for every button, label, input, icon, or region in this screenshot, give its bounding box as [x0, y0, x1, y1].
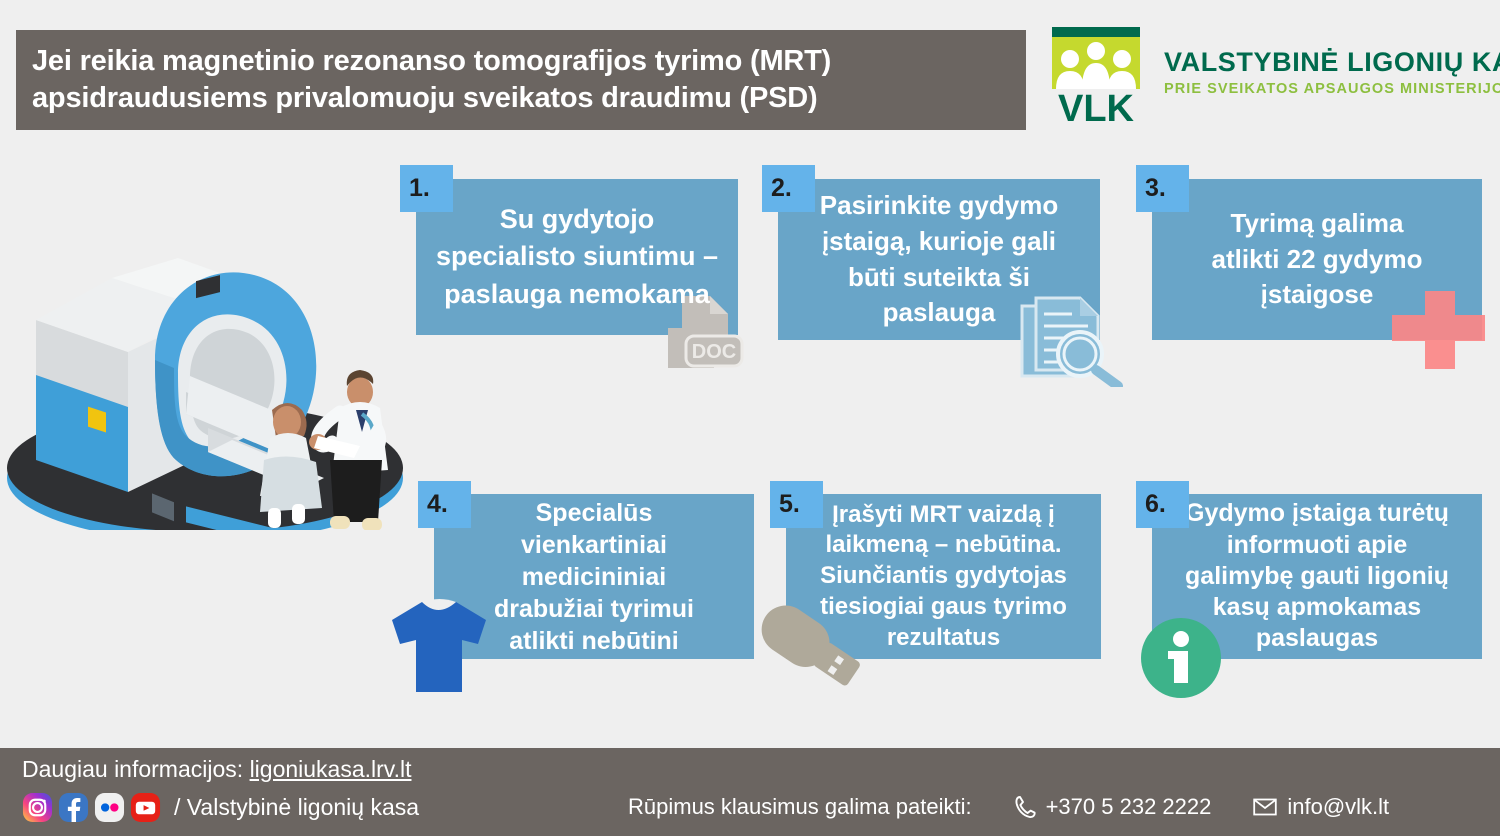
logo-organization-name: VALSTYBINĖ LIGONIŲ KASA [1164, 47, 1500, 78]
info-card-2[interactable]: Pasirinkite gydymo įstaigą, kurioje gali… [778, 179, 1100, 340]
logo-acronym-text: VLK [1058, 88, 1135, 125]
card-number-badge-4: 4. [418, 481, 471, 528]
phone-icon [1014, 795, 1036, 819]
info-card-5-text: Įrašyti MRT vaizdą į laikmeną – nebūtina… [806, 490, 1081, 664]
phone-number: +370 5 232 2222 [1046, 794, 1212, 820]
info-card-6[interactable]: Gydymo įstaiga turėtų informuoti apie ga… [1152, 494, 1482, 659]
social-row: / Valstybinė ligonių kasa [22, 792, 419, 823]
vlk-logo-mark-icon: VLK [1048, 25, 1146, 125]
info-card-3[interactable]: Tyrimą galima atlikti 22 gydymo įstaigos… [1152, 179, 1482, 340]
card-number-badge-3: 3. [1136, 165, 1189, 212]
footer-right-block: Rūpimus klausimus galima pateikti: +370 … [628, 794, 1389, 820]
page-title-line-1: Jei reikia magnetinio rezonanso tomograf… [32, 43, 1010, 80]
questions-label: Rūpimus klausimus galima pateikti: [628, 794, 972, 820]
social-handle-text: / Valstybinė ligonių kasa [174, 794, 419, 821]
vlk-logo: VLK VALSTYBINĖ LIGONIŲ KASA PRIE SVEIKAT… [1048, 25, 1500, 125]
more-info-label: Daugiau informacijos: [22, 756, 243, 782]
svg-text:DOC: DOC [692, 341, 736, 363]
more-info-line: Daugiau informacijos: ligoniukasa.lrv.lt [22, 756, 419, 783]
youtube-icon[interactable] [130, 792, 161, 823]
info-card-5[interactable]: Įrašyti MRT vaizdą į laikmeną – nebūtina… [786, 494, 1101, 659]
info-card-4-text: Specialūs vienkartiniai medicininiai dra… [480, 487, 708, 667]
mri-scanner-illustration [0, 160, 420, 530]
tshirt-icon [386, 588, 490, 696]
instagram-icon[interactable] [22, 792, 53, 823]
page-title-line-2: apsidraudusiems privalomuoju sveikatos d… [32, 80, 1010, 117]
flickr-icon[interactable] [94, 792, 125, 823]
infographic-page: Jei reikia magnetinio rezonanso tomograf… [0, 0, 1500, 836]
info-card-3-text: Tyrimą galima atlikti 22 gydymo įstaigos… [1198, 196, 1437, 324]
card-number-badge-2: 2. [762, 165, 815, 212]
email-contact[interactable]: info@vlk.lt [1253, 794, 1389, 820]
info-card-4[interactable]: Specialūs vienkartiniai medicininiai dra… [434, 494, 754, 659]
card-number-badge-1: 1. [400, 165, 453, 212]
facebook-icon[interactable] [58, 792, 89, 823]
email-address: info@vlk.lt [1287, 794, 1389, 820]
info-card-1[interactable]: Su gydytojo specialisto siuntimu – pasla… [416, 179, 738, 335]
website-link[interactable]: ligoniukasa.lrv.lt [250, 756, 412, 782]
info-card-1-text: Su gydytojo specialisto siuntimu – pasla… [422, 191, 732, 323]
card-number-badge-5: 5. [770, 481, 823, 528]
info-card-2-text: Pasirinkite gydymo įstaigą, kurioje gali… [806, 178, 1072, 342]
footer-left-block: Daugiau informacijos: ligoniukasa.lrv.lt [22, 756, 419, 823]
logo-organization-subtitle: PRIE SVEIKATOS APSAUGOS MINISTERIJOS [1164, 81, 1500, 97]
phone-contact[interactable]: +370 5 232 2222 [1014, 794, 1212, 820]
card-number-badge-6: 6. [1136, 481, 1189, 528]
mail-icon [1253, 797, 1277, 817]
page-title: Jei reikia magnetinio rezonanso tomograf… [16, 30, 1026, 130]
footer: Daugiau informacijos: ligoniukasa.lrv.lt [0, 748, 1500, 836]
info-card-6-text: Gydymo įstaiga turėtų informuoti apie ga… [1171, 488, 1463, 664]
